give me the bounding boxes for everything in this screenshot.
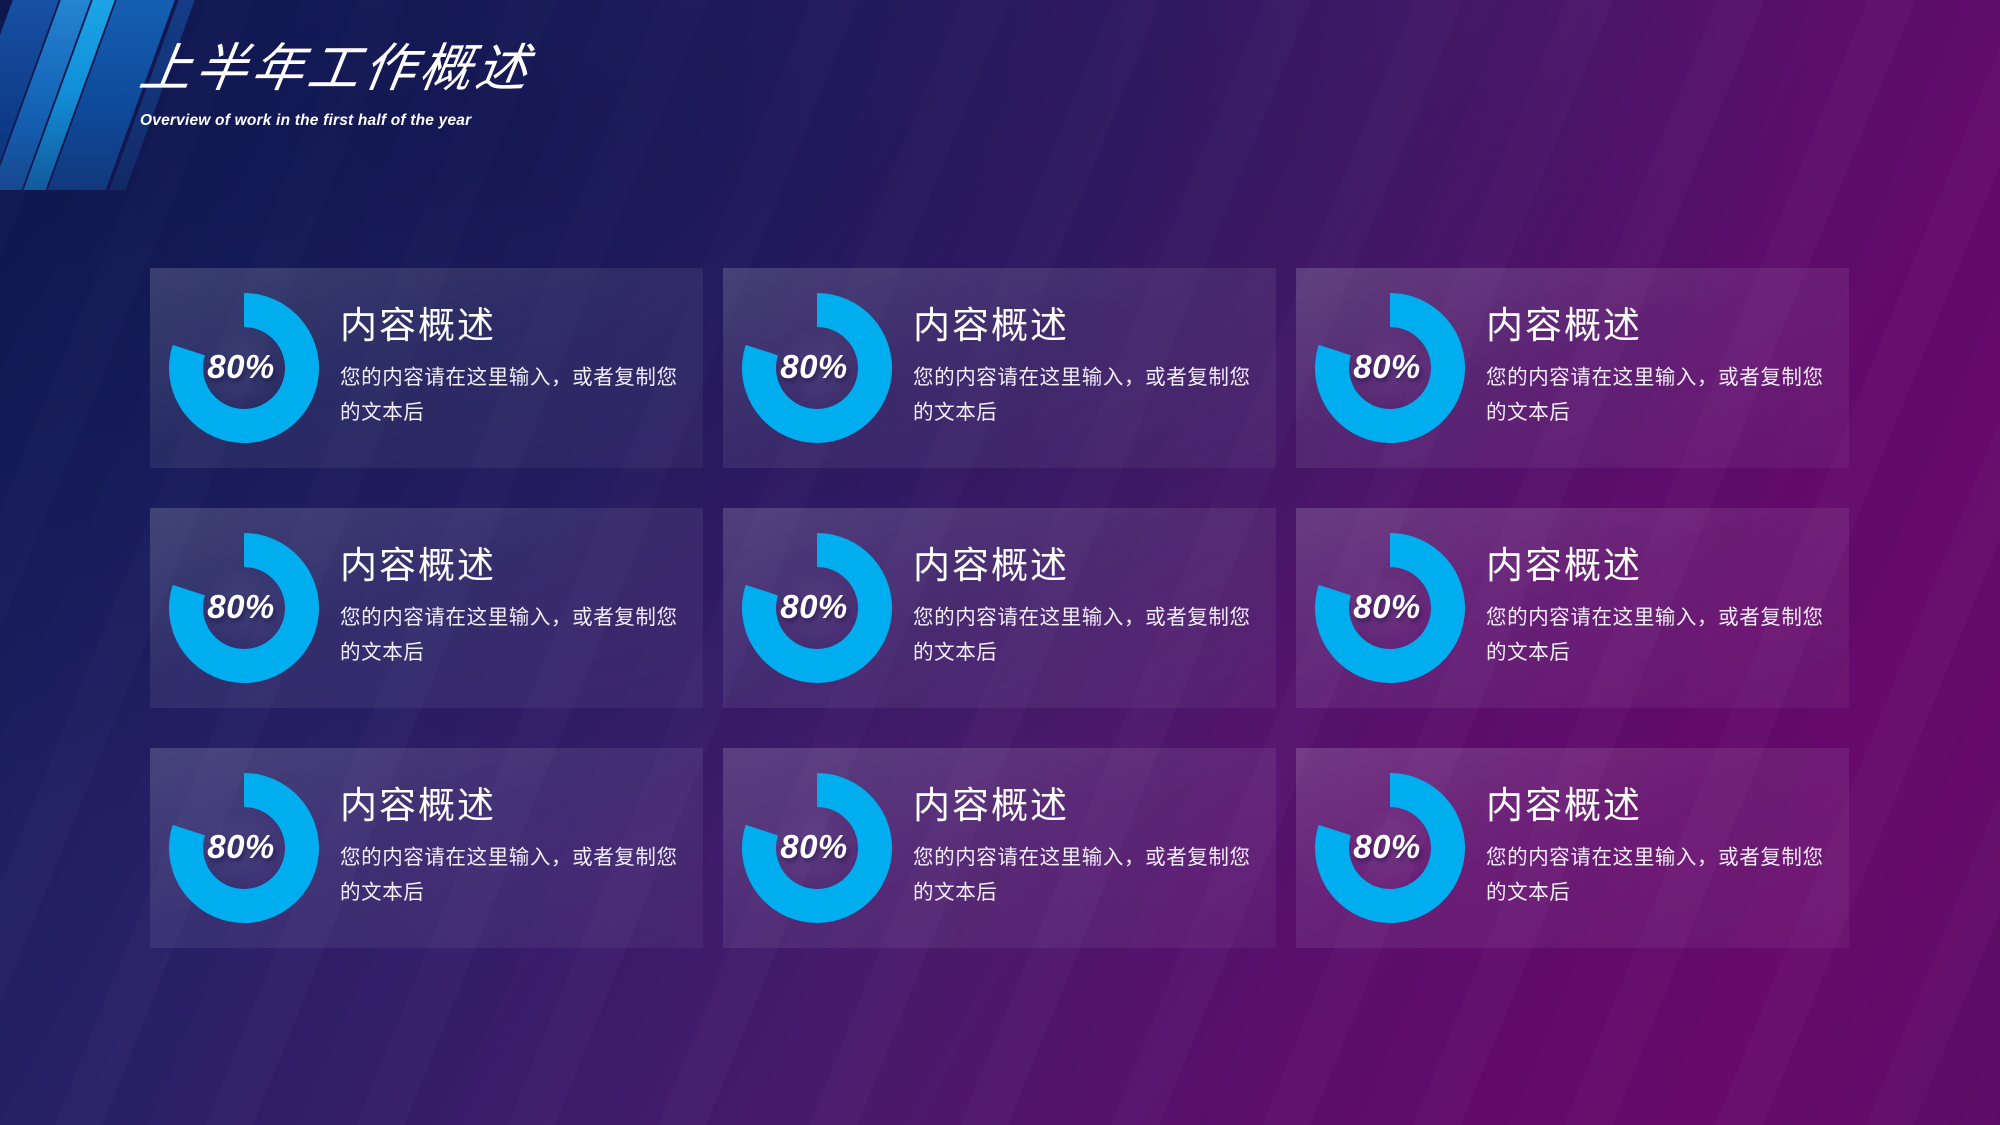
donut-ring-svg <box>1314 532 1466 684</box>
card-body-text: 您的内容请在这里输入，或者复制您的文本后 <box>913 600 1253 671</box>
card-title: 内容概述 <box>1486 306 1833 346</box>
card-title: 内容概述 <box>340 546 687 586</box>
card-body-text: 您的内容请在这里输入，或者复制您的文本后 <box>1486 840 1826 911</box>
donut-chart: 80% <box>1316 774 1464 922</box>
card-text-block: 内容概述您的内容请在这里输入，或者复制您的文本后 <box>901 306 1276 430</box>
accent-stripe <box>0 0 88 190</box>
donut-chart: 80% <box>170 774 318 922</box>
donut-chart: 80% <box>170 294 318 442</box>
card-body-text: 您的内容请在这里输入，或者复制您的文本后 <box>340 840 680 911</box>
content-card[interactable]: 80%内容概述您的内容请在这里输入，或者复制您的文本后 <box>723 268 1276 468</box>
donut-chart: 80% <box>170 534 318 682</box>
card-title: 内容概述 <box>340 786 687 826</box>
donut-chart: 80% <box>743 774 891 922</box>
content-card[interactable]: 80%内容概述您的内容请在这里输入，或者复制您的文本后 <box>150 268 703 468</box>
accent-stripe <box>0 0 144 190</box>
card-text-block: 内容概述您的内容请在这里输入，或者复制您的文本后 <box>1474 306 1849 430</box>
donut-ring-svg <box>168 292 320 444</box>
card-title: 内容概述 <box>913 546 1260 586</box>
donut-ring-svg <box>741 772 893 924</box>
card-text-block: 内容概述您的内容请在这里输入，或者复制您的文本后 <box>901 786 1276 910</box>
donut-ring-svg <box>741 292 893 444</box>
slide-canvas: 上半年工作概述 Overview of work in the first ha… <box>0 0 2000 1125</box>
card-body-text: 您的内容请在这里输入，或者复制您的文本后 <box>1486 600 1826 671</box>
content-card[interactable]: 80%内容概述您的内容请在这里输入，或者复制您的文本后 <box>723 508 1276 708</box>
donut-ring-svg <box>168 772 320 924</box>
content-card[interactable]: 80%内容概述您的内容请在这里输入，或者复制您的文本后 <box>150 748 703 948</box>
card-title: 内容概述 <box>1486 786 1833 826</box>
card-text-block: 内容概述您的内容请在这里输入，或者复制您的文本后 <box>328 306 703 430</box>
content-card[interactable]: 80%内容概述您的内容请在这里输入，或者复制您的文本后 <box>723 748 1276 948</box>
card-title: 内容概述 <box>340 306 687 346</box>
donut-ring-svg <box>168 532 320 684</box>
donut-ring-svg <box>741 532 893 684</box>
donut-chart: 80% <box>743 294 891 442</box>
content-card[interactable]: 80%内容概述您的内容请在这里输入，或者复制您的文本后 <box>1296 268 1849 468</box>
card-title: 内容概述 <box>1486 546 1833 586</box>
page-title: 上半年工作概述 <box>136 42 1045 97</box>
card-text-block: 内容概述您的内容请在这里输入，或者复制您的文本后 <box>1474 546 1849 670</box>
card-text-block: 内容概述您的内容请在这里输入，或者复制您的文本后 <box>328 786 703 910</box>
accent-stripe <box>0 0 120 190</box>
card-body-text: 您的内容请在这里输入，或者复制您的文本后 <box>340 600 680 671</box>
donut-chart: 80% <box>743 534 891 682</box>
content-card[interactable]: 80%内容概述您的内容请在这里输入，或者复制您的文本后 <box>1296 508 1849 708</box>
page-subtitle: Overview of work in the first half of th… <box>140 111 540 131</box>
card-grid: 80%内容概述您的内容请在这里输入，或者复制您的文本后80%内容概述您的内容请在… <box>150 268 1850 948</box>
card-text-block: 内容概述您的内容请在这里输入，或者复制您的文本后 <box>1474 786 1849 910</box>
card-text-block: 内容概述您的内容请在这里输入，或者复制您的文本后 <box>328 546 703 670</box>
donut-ring-svg <box>1314 292 1466 444</box>
donut-chart: 80% <box>1316 534 1464 682</box>
card-text-block: 内容概述您的内容请在这里输入，或者复制您的文本后 <box>901 546 1276 670</box>
donut-ring-svg <box>1314 772 1466 924</box>
card-body-text: 您的内容请在这里输入，或者复制您的文本后 <box>1486 360 1826 431</box>
card-title: 内容概述 <box>913 306 1260 346</box>
slide-header: 上半年工作概述 Overview of work in the first ha… <box>140 42 1040 130</box>
card-body-text: 您的内容请在这里输入，或者复制您的文本后 <box>913 360 1253 431</box>
donut-chart: 80% <box>1316 294 1464 442</box>
card-body-text: 您的内容请在这里输入，或者复制您的文本后 <box>913 840 1253 911</box>
content-card[interactable]: 80%内容概述您的内容请在这里输入，或者复制您的文本后 <box>1296 748 1849 948</box>
content-card[interactable]: 80%内容概述您的内容请在这里输入，或者复制您的文本后 <box>150 508 703 708</box>
card-body-text: 您的内容请在这里输入，或者复制您的文本后 <box>340 360 680 431</box>
card-title: 内容概述 <box>913 786 1260 826</box>
